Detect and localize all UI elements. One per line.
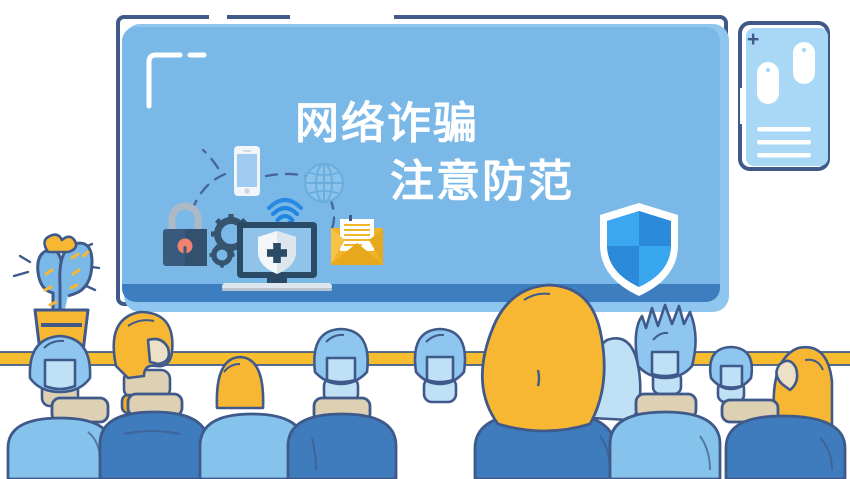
smartphone-icon (234, 146, 260, 196)
person-back-3 (217, 357, 263, 408)
shield-plus-horizontal (267, 249, 287, 257)
scene-svg: + (0, 0, 850, 479)
torso (100, 412, 208, 479)
hair-detail (538, 370, 539, 386)
wall-poster-line (757, 127, 811, 132)
wall-poster-tag-hole (766, 68, 770, 72)
torso (610, 412, 720, 479)
face-side (148, 339, 169, 364)
head-shade (652, 352, 678, 376)
torso (8, 418, 112, 479)
head-shade (45, 360, 75, 389)
laptop-base-shade (222, 288, 332, 291)
padlock-keyhole-slot (184, 246, 187, 254)
presentation-board: 网络诈骗 注意防范 (118, 15, 729, 312)
envelope-pin (349, 215, 352, 221)
phone-screen (237, 154, 257, 187)
wall-poster-plus-icon: + (747, 28, 759, 51)
wall-poster: + (740, 23, 828, 169)
wall-poster-outline-gap (740, 88, 746, 124)
wall-poster-tag-hole (802, 48, 806, 52)
cactus-flower (44, 235, 76, 252)
wall-poster-line (757, 140, 811, 145)
board-frame-gap (290, 15, 394, 23)
board-frame-gap (209, 15, 227, 23)
head-shade (721, 366, 742, 388)
board-title-line-1: 网络诈骗 (295, 98, 479, 148)
head-shade (327, 358, 355, 382)
wall-poster-line (757, 153, 811, 158)
phone-speaker (243, 150, 251, 152)
illustration-canvas: + (0, 0, 850, 479)
phone-home-button (244, 188, 249, 193)
head-shade (427, 357, 453, 382)
board-title-line-2: 注意防范 (390, 157, 574, 206)
torso (288, 414, 396, 479)
globe-icon (305, 164, 343, 202)
